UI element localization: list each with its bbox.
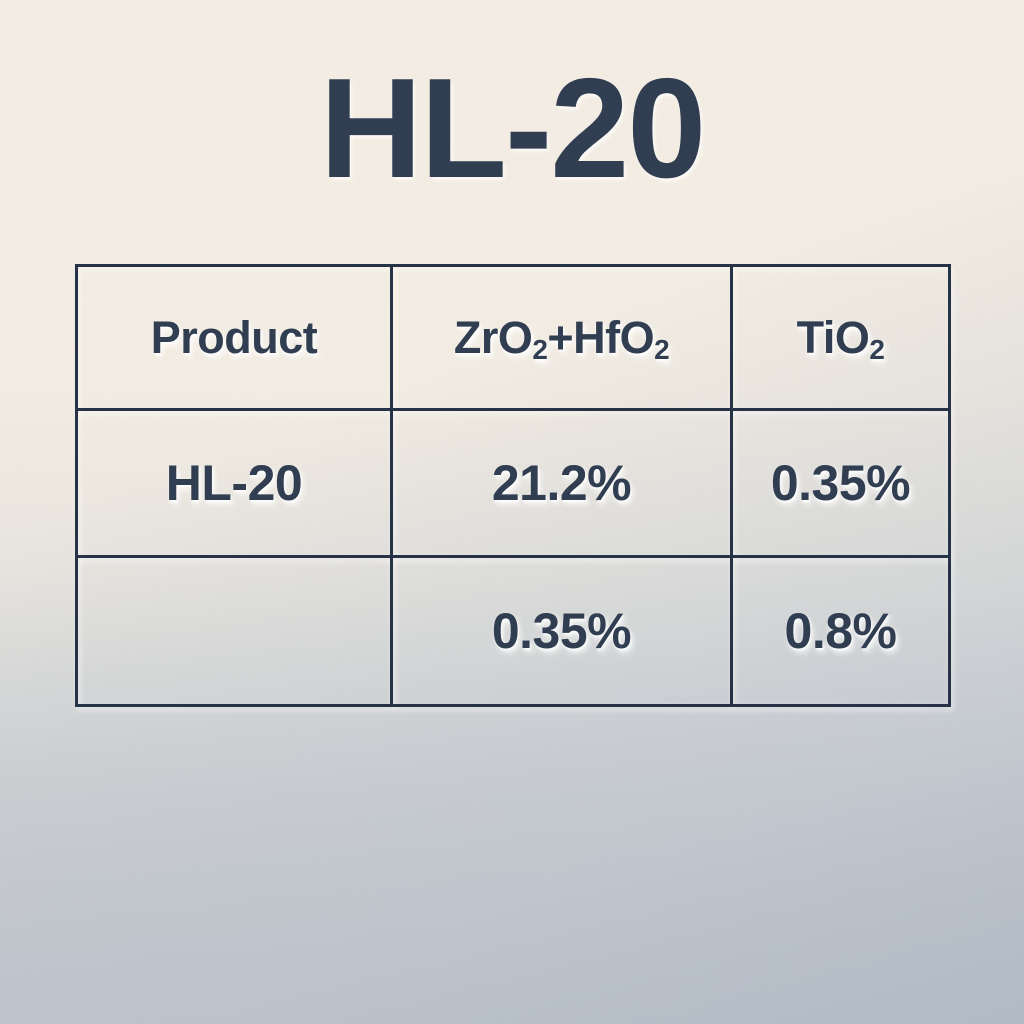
cell-tio2-row-1: 0.35%: [732, 410, 950, 557]
specification-table-container: Product ZrO2+HfO2 TiO2 HL-20 21.2%: [75, 264, 948, 695]
column-header-zro2-hfo2: ZrO2+HfO2: [392, 266, 732, 410]
column-header-product: Product: [77, 266, 392, 410]
cell-product-row-1: HL-20: [77, 410, 392, 557]
cell-zro2-hfo2-row-2: 0.35%: [392, 557, 732, 706]
column-header-tio2: TiO2: [732, 266, 950, 410]
cell-tio2-row-1-value: 0.35%: [771, 454, 910, 512]
column-header-tio2-label: TiO2: [797, 312, 885, 364]
cell-tio2-row-2: 0.8%: [732, 557, 950, 706]
zro2-subscript: 2: [532, 334, 547, 365]
tio2-subscript: 2: [869, 334, 884, 365]
cell-zro2-hfo2-row-1-value: 21.2%: [492, 454, 631, 512]
cell-zro2-hfo2-row-1: 21.2%: [392, 410, 732, 557]
poster-canvas: HL-20 Product ZrO2+HfO2 TiO2: [0, 0, 1024, 1024]
table-row: HL-20 21.2% 0.35%: [77, 410, 950, 557]
hfo2-base-text: O: [620, 312, 655, 363]
column-header-zro2-hfo2-label: ZrO2+HfO2: [454, 312, 669, 364]
column-header-product-label: Product: [151, 312, 318, 364]
zro2-base-text: ZrO: [454, 312, 533, 363]
hfo2-subscript: 2: [654, 334, 669, 365]
cell-product-row-2: [77, 557, 392, 706]
cell-zro2-hfo2-row-2-value: 0.35%: [492, 602, 631, 660]
page-title: HL-20: [0, 58, 1024, 200]
cell-tio2-row-2-value: 0.8%: [785, 602, 897, 660]
cell-product-row-1-value: HL-20: [166, 454, 302, 512]
table-row: 0.35% 0.8%: [77, 557, 950, 706]
table-header-row: Product ZrO2+HfO2 TiO2: [77, 266, 950, 410]
tio2-base-text: TiO: [797, 312, 870, 363]
zro2-hfo2-join-text: +Hf: [547, 312, 619, 363]
specification-table: Product ZrO2+HfO2 TiO2 HL-20 21.2%: [75, 264, 951, 707]
